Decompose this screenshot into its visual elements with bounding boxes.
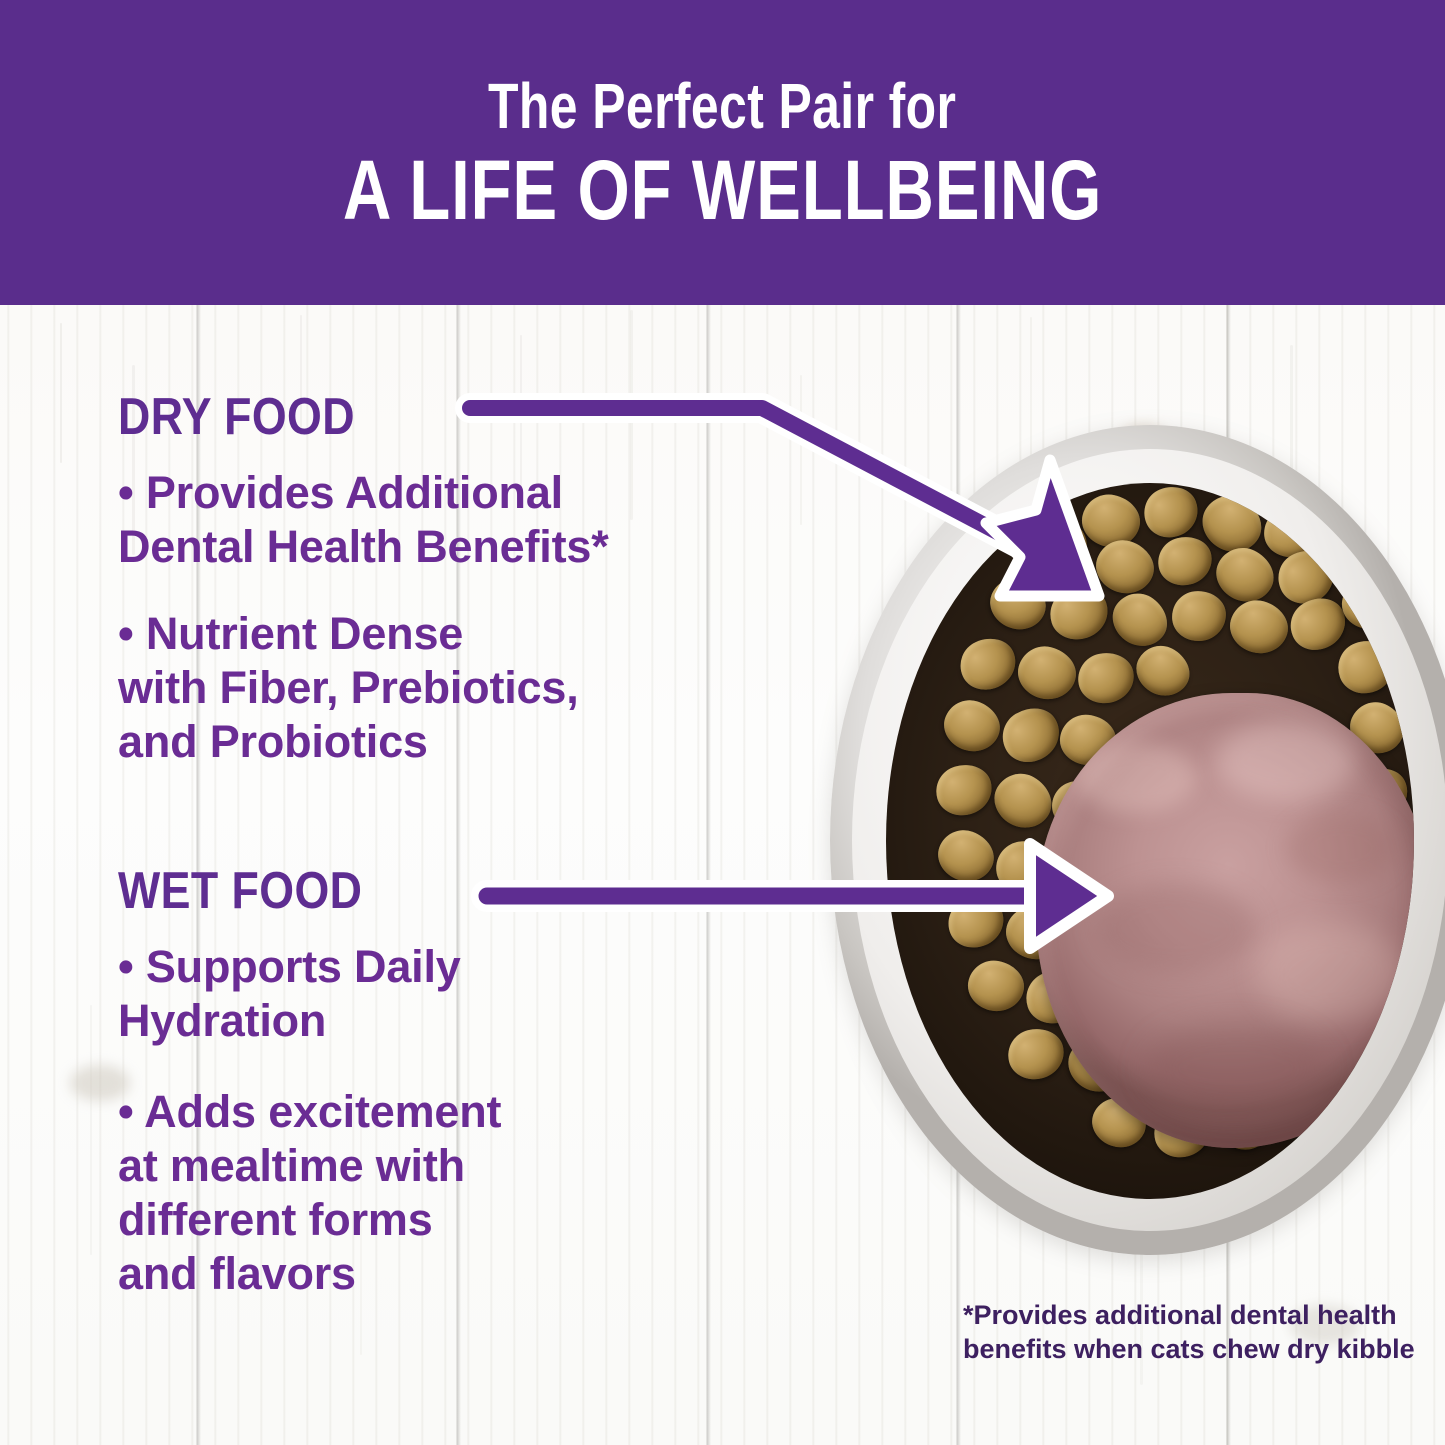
product-feature-graphic: The Perfect Pair for A LIFE OF WELLBEING <box>0 0 1445 1445</box>
footnote-line-2: benefits when cats chew dry kibble <box>963 1332 1423 1366</box>
header-banner: The Perfect Pair for A LIFE OF WELLBEING <box>0 0 1445 305</box>
section-heading-wet-food: WET FOOD <box>118 861 362 921</box>
bullet-dry-2-line-1: • Nutrient Dense <box>118 607 798 661</box>
bullet-dry-2-line-2: with Fiber, Prebiotics, <box>118 661 798 715</box>
bullet-dry-2: • Nutrient Dense with Fiber, Prebiotics,… <box>118 607 798 769</box>
bullet-wet-2-line-1: • Adds excitement <box>118 1085 798 1139</box>
food-bowl-image <box>830 425 1445 1265</box>
bullet-wet-2-line-4: and flavors <box>118 1247 798 1301</box>
bowl-outer-rim <box>830 425 1445 1255</box>
footnote-line-1: *Provides additional dental health <box>963 1298 1423 1332</box>
section-heading-dry-food: DRY FOOD <box>118 387 355 447</box>
bullet-dry-1: • Provides Additional Dental Health Bene… <box>118 466 798 574</box>
bullet-dry-1-line-1: • Provides Additional <box>118 466 798 520</box>
wet-pate-food <box>1036 693 1414 1148</box>
bullet-wet-2: • Adds excitement at mealtime with diffe… <box>118 1085 798 1301</box>
page-title-line-1: The Perfect Pair for <box>488 74 956 138</box>
bullet-wet-2-line-2: at mealtime with <box>118 1139 798 1193</box>
bullet-dry-2-line-3: and Probiotics <box>118 715 798 769</box>
page-title-line-2: A LIFE OF WELLBEING <box>343 148 1102 232</box>
bullet-wet-1: • Supports Daily Hydration <box>118 940 798 1048</box>
bullet-wet-1-line-2: Hydration <box>118 994 798 1048</box>
footnote-disclaimer: *Provides additional dental health benef… <box>963 1298 1423 1366</box>
bowl-interior <box>886 483 1414 1199</box>
bullet-dry-1-line-2: Dental Health Benefits* <box>118 520 798 574</box>
bullet-wet-2-line-3: different forms <box>118 1193 798 1247</box>
bullet-wet-1-line-1: • Supports Daily <box>118 940 798 994</box>
benefits-copy-column: DRY FOOD • Provides Additional Dental He… <box>0 305 840 1445</box>
